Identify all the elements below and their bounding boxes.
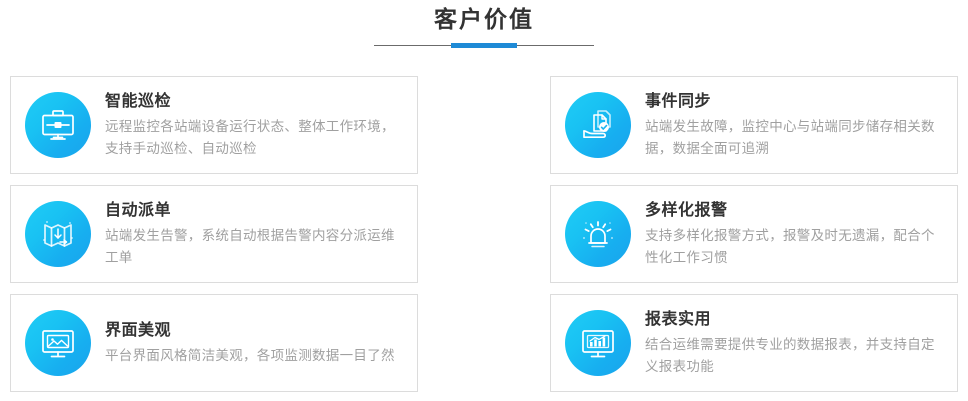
card-title: 自动派单 [105,200,401,222]
section-header: 客户价值 [0,0,968,51]
divider-accent-bar [451,43,517,48]
cards-column-right: 事件同步 站端发生故障，监控中心与站端同步储存相关数据，数据全面可追溯 [550,76,958,392]
card-title: 事件同步 [645,91,941,113]
alarm-siren-icon [565,201,631,267]
feature-card-beautiful-ui[interactable]: 界面美观 平台界面风格简洁美观，各项监测数据一目了然 [10,294,418,392]
card-description: 结合运维需要提供专业的数据报表，并支持自定义报表功能 [645,334,941,378]
card-body: 智能巡检 远程监控各站端设备运行状态、整体工作环境，支持手动巡检、自动巡检 [105,91,403,160]
page-title: 客户价值 [0,3,968,35]
card-body: 自动派单 站端发生告警，系统自动根据告警内容分派运维工单 [105,200,403,269]
feature-card-smart-inspection[interactable]: 智能巡检 远程监控各站端设备运行状态、整体工作环境，支持手动巡检、自动巡检 [10,76,418,174]
card-body: 事件同步 站端发生故障，监控中心与站端同步储存相关数据，数据全面可追溯 [645,91,943,160]
card-title: 界面美观 [105,320,401,342]
card-body: 界面美观 平台界面风格简洁美观，各项监测数据一目了然 [105,320,403,367]
feature-cards-grid: 智能巡检 远程监控各站端设备运行状态、整体工作环境，支持手动巡检、自动巡检 [0,76,968,392]
feature-card-auto-dispatch[interactable]: 自动派单 站端发生告警，系统自动根据告警内容分派运维工单 [10,185,418,283]
card-description: 平台界面风格简洁美观，各项监测数据一目了然 [105,345,401,367]
monitor-inspection-icon [25,92,91,158]
card-title: 报表实用 [645,309,941,331]
card-description: 站端发生故障，监控中心与站端同步储存相关数据，数据全面可追溯 [645,116,941,160]
card-description: 远程监控各站端设备运行状态、整体工作环境，支持手动巡检、自动巡检 [105,116,401,160]
card-title: 多样化报警 [645,200,941,222]
card-title: 智能巡检 [105,91,401,113]
map-dispatch-icon [25,201,91,267]
feature-card-practical-report[interactable]: 报表实用 结合运维需要提供专业的数据报表，并支持自定义报表功能 [550,294,958,392]
hand-document-sync-icon [565,92,631,158]
feature-card-diverse-alarm[interactable]: 多样化报警 支持多样化报警方式，报警及时无遗漏，配合个性化工作习惯 [550,185,958,283]
card-body: 多样化报警 支持多样化报警方式，报警及时无遗漏，配合个性化工作习惯 [645,200,943,269]
monitor-image-icon [25,310,91,376]
card-description: 站端发生告警，系统自动根据告警内容分派运维工单 [105,225,401,269]
title-divider [374,41,594,51]
card-description: 支持多样化报警方式，报警及时无遗漏，配合个性化工作习惯 [645,225,941,269]
card-body: 报表实用 结合运维需要提供专业的数据报表，并支持自定义报表功能 [645,309,943,378]
feature-card-event-sync[interactable]: 事件同步 站端发生故障，监控中心与站端同步储存相关数据，数据全面可追溯 [550,76,958,174]
monitor-chart-icon [565,310,631,376]
cards-column-left: 智能巡检 远程监控各站端设备运行状态、整体工作环境，支持手动巡检、自动巡检 [10,76,418,392]
